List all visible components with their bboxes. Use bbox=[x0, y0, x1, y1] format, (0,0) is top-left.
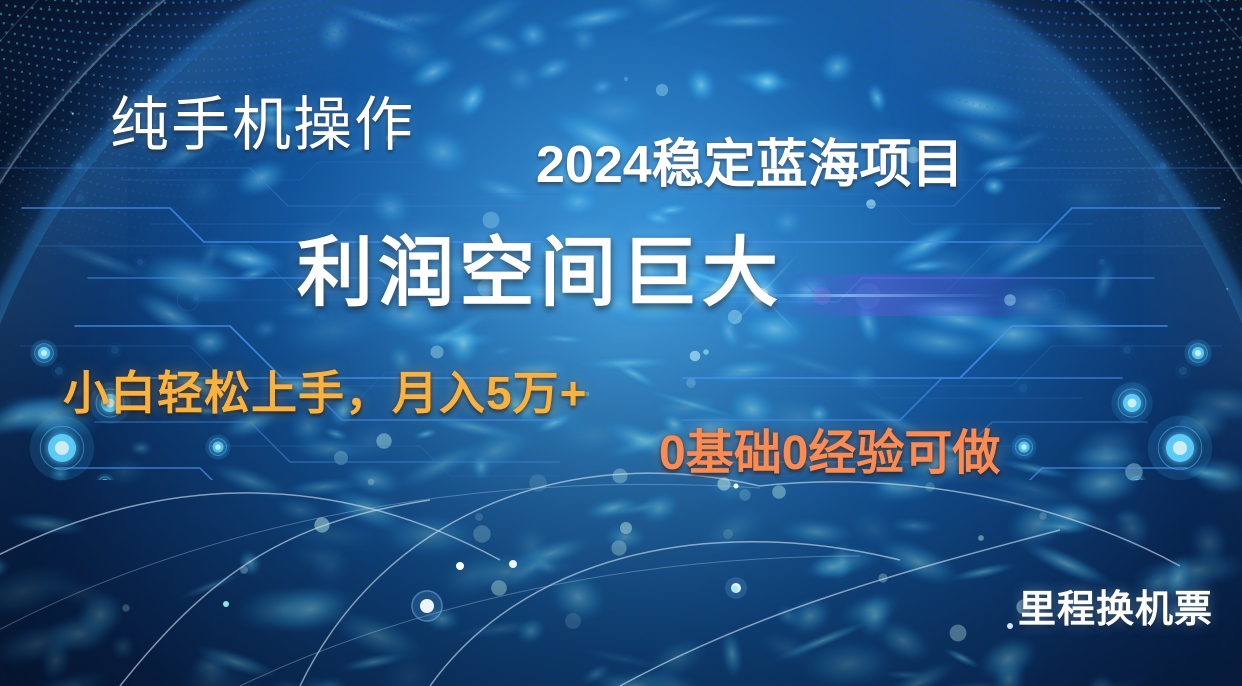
promo-poster: 纯手机操作 2024稳定蓝海项目 利润空间巨大 小白轻松上手，月入5万+ 0基础… bbox=[0, 0, 1242, 686]
headline-pure-mobile: 纯手机操作 bbox=[110, 96, 415, 155]
headline-year-project: 2024稳定蓝海项目 bbox=[536, 139, 964, 191]
headline-easy-start: 小白轻松上手，月入5万+ bbox=[63, 370, 587, 416]
headline-zero-base: 0基础0经验可做 bbox=[659, 430, 1000, 478]
headline-profit-huge: 利润空间巨大 bbox=[297, 236, 783, 312]
headline-miles-ticket: 里程换机票 bbox=[1018, 591, 1213, 629]
